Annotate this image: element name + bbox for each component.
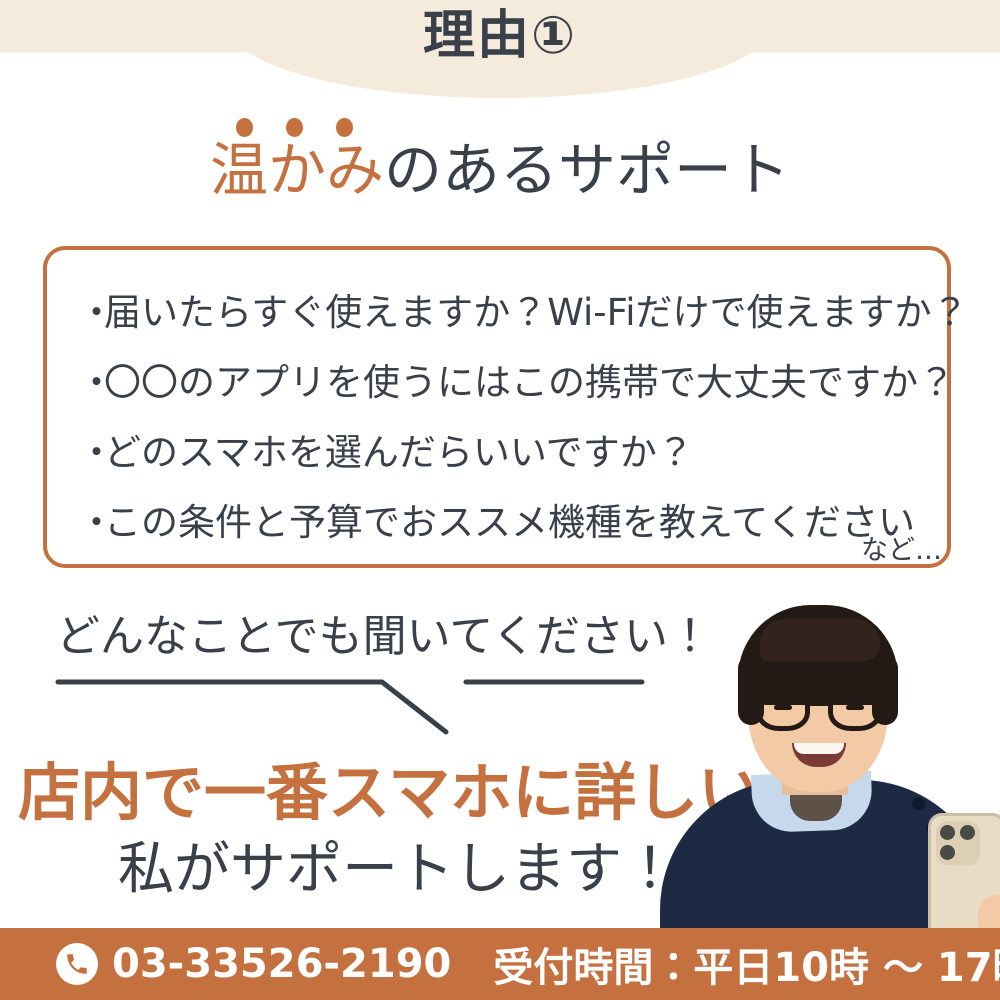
subtitle-highlight: 温かみ — [210, 136, 384, 204]
list-item-text: この条件と予算でおススメ機種を教えてください — [104, 488, 948, 558]
staff-photo — [640, 595, 1000, 940]
eye-right — [846, 705, 864, 710]
trailing-note: など… — [861, 528, 942, 567]
list-item-text: どのスマホを選んだらいいですか？ — [104, 418, 948, 488]
page-title: 理由① — [0, 10, 1000, 62]
bullet-marker: ・ — [78, 278, 104, 348]
list-item: ・ この条件と予算でおススメ機種を教えてください — [78, 488, 948, 558]
bullet-marker: ・ — [78, 488, 104, 558]
emphasis-dot — [336, 118, 353, 137]
emphasis-dot — [236, 118, 253, 137]
contact-footer: 03-33526-2190 受付時間：平日10時 〜 17時 — [0, 928, 1000, 1000]
list-item: ・ どのスマホを選んだらいいですか？ — [78, 418, 948, 488]
list-item-text: 届いたらすぐ使えますか？Wi-Fiだけで使えますか？ — [104, 278, 969, 348]
headline-secondary: 私がサポートします！ — [118, 824, 678, 905]
phone-number[interactable]: 03-33526-2190 — [112, 941, 451, 987]
subtitle-rest: のあるサポート — [384, 136, 790, 204]
promo-page: 理由① 温かみのあるサポート ・ 届いたらすぐ使えますか？Wi-Fiだけで使えま… — [0, 0, 1000, 1000]
eye-left — [774, 705, 792, 710]
bullet-marker: ・ — [78, 418, 104, 488]
sweater-button — [912, 797, 925, 810]
speech-bubble-underline — [40, 660, 680, 740]
list-item-text: 〇〇のアプリを使うにはこの携帯で大丈夫ですか？ — [104, 348, 955, 418]
section-subtitle: 温かみのあるサポート — [0, 140, 1000, 201]
emphasis-dot — [286, 118, 303, 137]
phone-icon — [56, 943, 98, 985]
teeth — [794, 743, 844, 754]
list-item: ・ 〇〇のアプリを使うにはこの携帯で大丈夫ですか？ — [78, 348, 948, 418]
question-list: ・ 届いたらすぐ使えますか？Wi-Fiだけで使えますか？ ・ 〇〇のアプリを使う… — [78, 278, 948, 558]
phone-camera-module — [936, 821, 980, 865]
emphasis-dots — [228, 118, 368, 138]
glasses-bridge — [808, 701, 830, 706]
ask-anything-text: どんなことでも聞いてください！ — [56, 600, 712, 664]
bullet-marker: ・ — [78, 348, 104, 418]
hair-fringe — [760, 619, 880, 661]
list-item: ・ 届いたらすぐ使えますか？Wi-Fiだけで使えますか？ — [78, 278, 948, 348]
business-hours: 受付時間：平日10時 〜 17時 — [493, 935, 1000, 993]
